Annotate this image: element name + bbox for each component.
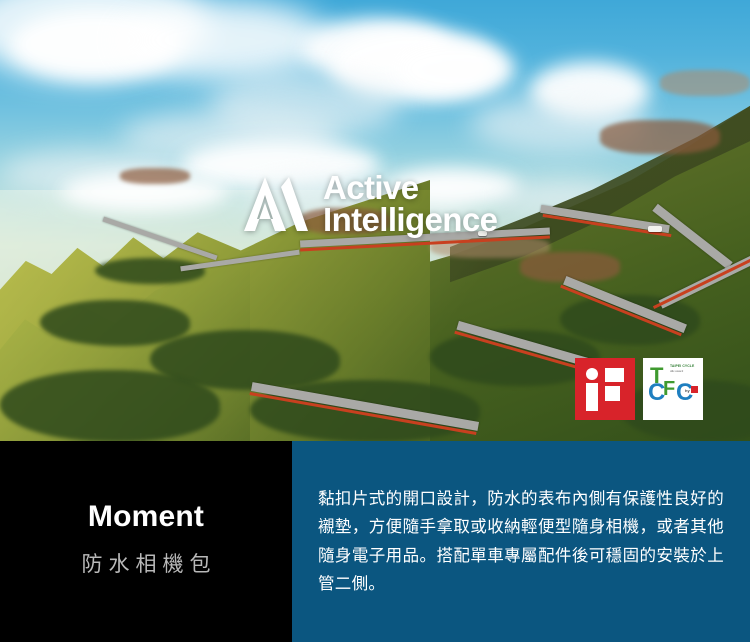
brand-line-1: Active: [323, 172, 497, 204]
product-name-panel: Moment 防水相機包: [0, 441, 292, 642]
product-name-zh: 防水相機包: [76, 548, 217, 578]
tcfc-title: TAIPEI CYCLE: [670, 364, 694, 368]
product-description: 黏扣片式的開口設計，防水的表布內側有保護性良好的襯墊，方便隨手拿取或收納輕便型隨…: [318, 485, 724, 599]
product-name: Moment: [88, 500, 204, 534]
taipei-cycle-award-badge: T C F C TAIPEI CYCLE d&i award hy: [643, 358, 703, 420]
if-logo-stem-icon: [586, 383, 598, 411]
if-logo-bar-top-icon: [605, 368, 624, 382]
tcfc-subtitle: d&i award: [670, 370, 683, 373]
cloud: [395, 42, 515, 96]
vegetation: [0, 370, 220, 441]
active-intelligence-logo-mark: [243, 175, 309, 233]
brand-lockup: Active Intelligence: [243, 172, 497, 235]
award-badges: T C F C TAIPEI CYCLE d&i award hy: [575, 358, 703, 420]
product-description-panel: 黏扣片式的開口設計，防水的表布內側有保護性良好的襯墊，方便隨手拿取或收納輕便型隨…: [292, 441, 750, 642]
vegetation: [40, 300, 190, 346]
brand-wordmark: Active Intelligence: [323, 172, 497, 235]
if-logo-bar-mid-icon: [605, 386, 620, 401]
rock-outcrop: [660, 70, 750, 96]
vegetation: [95, 258, 205, 284]
if-logo-dot-icon: [586, 368, 598, 380]
cloud: [120, 0, 330, 80]
rock-outcrop: [120, 168, 190, 184]
info-panels: Moment 防水相機包 黏扣片式的開口設計，防水的表布內側有保護性良好的襯墊，…: [0, 441, 750, 642]
tcfc-logo-icon: T C F C TAIPEI CYCLE d&i award hy: [646, 361, 700, 417]
if-design-award-badge: [575, 358, 635, 420]
rock-outcrop: [600, 120, 720, 154]
tcfc-letter-c2: C: [676, 381, 693, 405]
tcfc-mark-text: hy: [685, 388, 690, 393]
brand-line-2: Intelligence: [323, 204, 497, 236]
car: [648, 226, 662, 232]
hero-photo: Active Intelligence T C F C TAIPEI CYCLE: [0, 0, 750, 441]
product-banner: Active Intelligence T C F C TAIPEI CYCLE: [0, 0, 750, 642]
tcfc-red-square-icon: [691, 386, 698, 393]
tcfc-letter-f: F: [663, 379, 675, 399]
